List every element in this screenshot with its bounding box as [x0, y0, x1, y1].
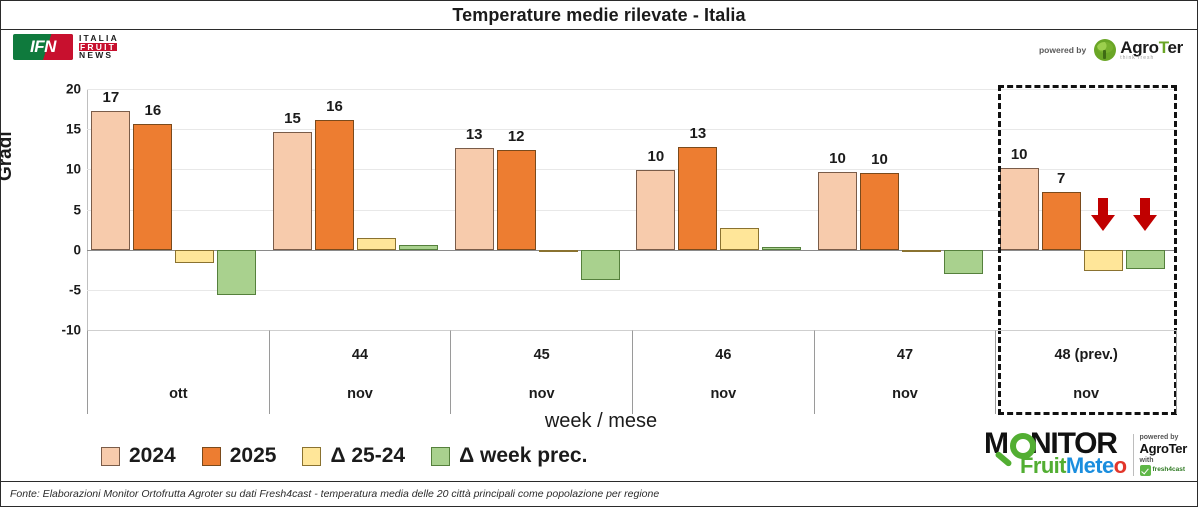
bar-group: 1516	[269, 89, 451, 330]
bar[interactable]	[902, 250, 941, 252]
tree-icon	[1094, 39, 1116, 61]
bar-value-label: 10	[829, 150, 846, 167]
y-axis-title: Gradi	[0, 131, 17, 181]
fresh4cast-badge: fresh4cast	[1140, 465, 1188, 476]
bar-value-label: 7	[1057, 170, 1065, 187]
x-category-cell: 45nov	[450, 330, 632, 414]
y-tick-label: -10	[61, 323, 81, 338]
bar[interactable]	[1126, 250, 1165, 269]
monitor-agroter-label: AgroTer	[1140, 442, 1188, 456]
x-category-cell: 48 (prev.)nov	[995, 330, 1177, 414]
bar-value-label: 12	[508, 128, 525, 145]
legend-label: 2025	[230, 444, 277, 468]
agroter-tagline: think fresh	[1120, 56, 1183, 61]
ifn-wordmark: ITALIA FRUIT NEWS	[79, 34, 119, 60]
bar[interactable]	[357, 238, 396, 250]
x-category-cell: 44nov	[269, 330, 451, 414]
bar[interactable]	[217, 250, 256, 295]
x-month-label: nov	[270, 386, 451, 402]
agroter-logo: AgroTer think fresh	[1094, 39, 1183, 61]
legend-swatch	[302, 447, 321, 466]
bar[interactable]	[1084, 250, 1123, 271]
x-week-label: 44	[270, 347, 451, 363]
ifn-line-news: NEWS	[79, 51, 119, 60]
bar-value-label: 10	[871, 151, 888, 168]
y-tick-label: 5	[73, 202, 81, 217]
page-title: Temperature medie rilevate - Italia	[452, 5, 745, 26]
bar[interactable]	[175, 250, 214, 264]
bar-group: 107	[995, 89, 1177, 330]
x-category-cell: 47nov	[814, 330, 996, 414]
bar[interactable]	[133, 124, 172, 249]
y-tick-label: 20	[66, 82, 81, 97]
x-week-label: 47	[815, 347, 996, 363]
x-week-label: 48 (prev.)	[996, 347, 1176, 363]
bar[interactable]	[581, 250, 620, 281]
plot-area: 17161516131210131010107	[87, 89, 1177, 330]
chart-frame: Temperature medie rilevate - Italia IFN …	[0, 0, 1198, 507]
monitor-word-rest: NITOR	[1030, 427, 1117, 460]
bar[interactable]	[539, 250, 578, 252]
legend-swatch	[202, 447, 221, 466]
bar[interactable]	[678, 147, 717, 250]
bar-value-label: 13	[466, 126, 483, 143]
bar[interactable]	[720, 228, 759, 250]
bar-value-label: 10	[647, 148, 664, 165]
x-month-label: nov	[451, 386, 632, 402]
legend-item[interactable]: 2025	[202, 444, 277, 468]
bar-value-label: 16	[326, 98, 343, 115]
monitor-with-label: with	[1140, 457, 1188, 464]
powered-by-label: powered by	[1039, 45, 1086, 55]
legend-item[interactable]: 2024	[101, 444, 176, 468]
bar[interactable]	[1042, 192, 1081, 250]
x-month-label: nov	[633, 386, 814, 402]
x-month-label: nov	[815, 386, 996, 402]
agroter-wordmark: AgroTer	[1120, 39, 1183, 56]
x-week-label: 45	[451, 347, 632, 363]
check-icon	[1140, 465, 1151, 476]
bar[interactable]	[818, 172, 857, 250]
bar-value-label: 15	[284, 110, 301, 127]
title-bar: Temperature medie rilevate - Italia	[1, 1, 1197, 30]
bar[interactable]	[860, 173, 899, 250]
fresh4cast-label: fresh4cast	[1153, 467, 1186, 474]
y-tick-label: -5	[69, 282, 81, 297]
bar[interactable]	[1000, 168, 1039, 250]
monitor-credits: powered by AgroTer with fresh4cast	[1133, 434, 1188, 476]
x-category-cell: 46nov	[632, 330, 814, 414]
bar[interactable]	[636, 170, 675, 250]
x-week-label: 46	[633, 347, 814, 363]
y-tick-label: 15	[66, 122, 81, 137]
chart-legend: 20242025Δ 25-24Δ week prec.	[101, 444, 587, 468]
bar[interactable]	[944, 250, 983, 274]
x-month-label: nov	[996, 386, 1176, 402]
powered-by-agroter: powered by AgroTer think fresh	[1039, 39, 1183, 61]
legend-label: Δ 25-24	[330, 444, 405, 468]
y-tick-label: 0	[73, 242, 81, 257]
y-tick-label: 10	[66, 162, 81, 177]
ifn-mark-icon: IFN	[13, 34, 73, 60]
ifn-mark-text: IFN	[13, 34, 73, 60]
down-arrow-icon	[1090, 198, 1116, 232]
legend-swatch	[101, 447, 120, 466]
x-category-cell: ott	[87, 330, 269, 414]
bar[interactable]	[273, 132, 312, 250]
bar[interactable]	[399, 245, 438, 250]
monitor-wordmark: MONITOR	[984, 431, 1126, 457]
bar-value-label: 10	[1011, 146, 1028, 163]
legend-swatch	[431, 447, 450, 466]
legend-label: Δ week prec.	[459, 444, 587, 468]
monitor-fruitmeteo-logo: MONITOR FruitMeteo powered by AgroTer wi…	[984, 431, 1187, 476]
bar-value-label: 16	[144, 102, 161, 119]
bar-group: 1312	[450, 89, 632, 330]
bar[interactable]	[762, 247, 801, 249]
down-arrow-icon	[1132, 198, 1158, 232]
legend-label: 2024	[129, 444, 176, 468]
legend-item[interactable]: Δ 25-24	[302, 444, 405, 468]
bar-value-label: 13	[689, 125, 706, 142]
bar-group: 1010	[814, 89, 996, 330]
source-note: Fonte: Elaborazioni Monitor Ortofrutta A…	[1, 488, 659, 500]
bar[interactable]	[497, 150, 536, 250]
bar[interactable]	[315, 120, 354, 250]
monitor-powered-by-label: powered by	[1140, 434, 1188, 441]
bar[interactable]	[455, 148, 494, 250]
bar[interactable]	[91, 111, 130, 250]
footer-bar: Fonte: Elaborazioni Monitor Ortofrutta A…	[1, 481, 1197, 506]
y-axis-labels: 20151050-5-10	[21, 81, 81, 338]
legend-item[interactable]: Δ week prec.	[431, 444, 587, 468]
x-month-label: ott	[88, 386, 269, 402]
ifn-logo: IFN ITALIA FRUIT NEWS	[13, 34, 119, 60]
bar-group: 1013	[632, 89, 814, 330]
bar-group: 1716	[87, 89, 269, 330]
x-axis-categories: ott44nov45nov46nov47nov48 (prev.)nov	[87, 330, 1177, 414]
bar-value-label: 17	[102, 89, 119, 106]
